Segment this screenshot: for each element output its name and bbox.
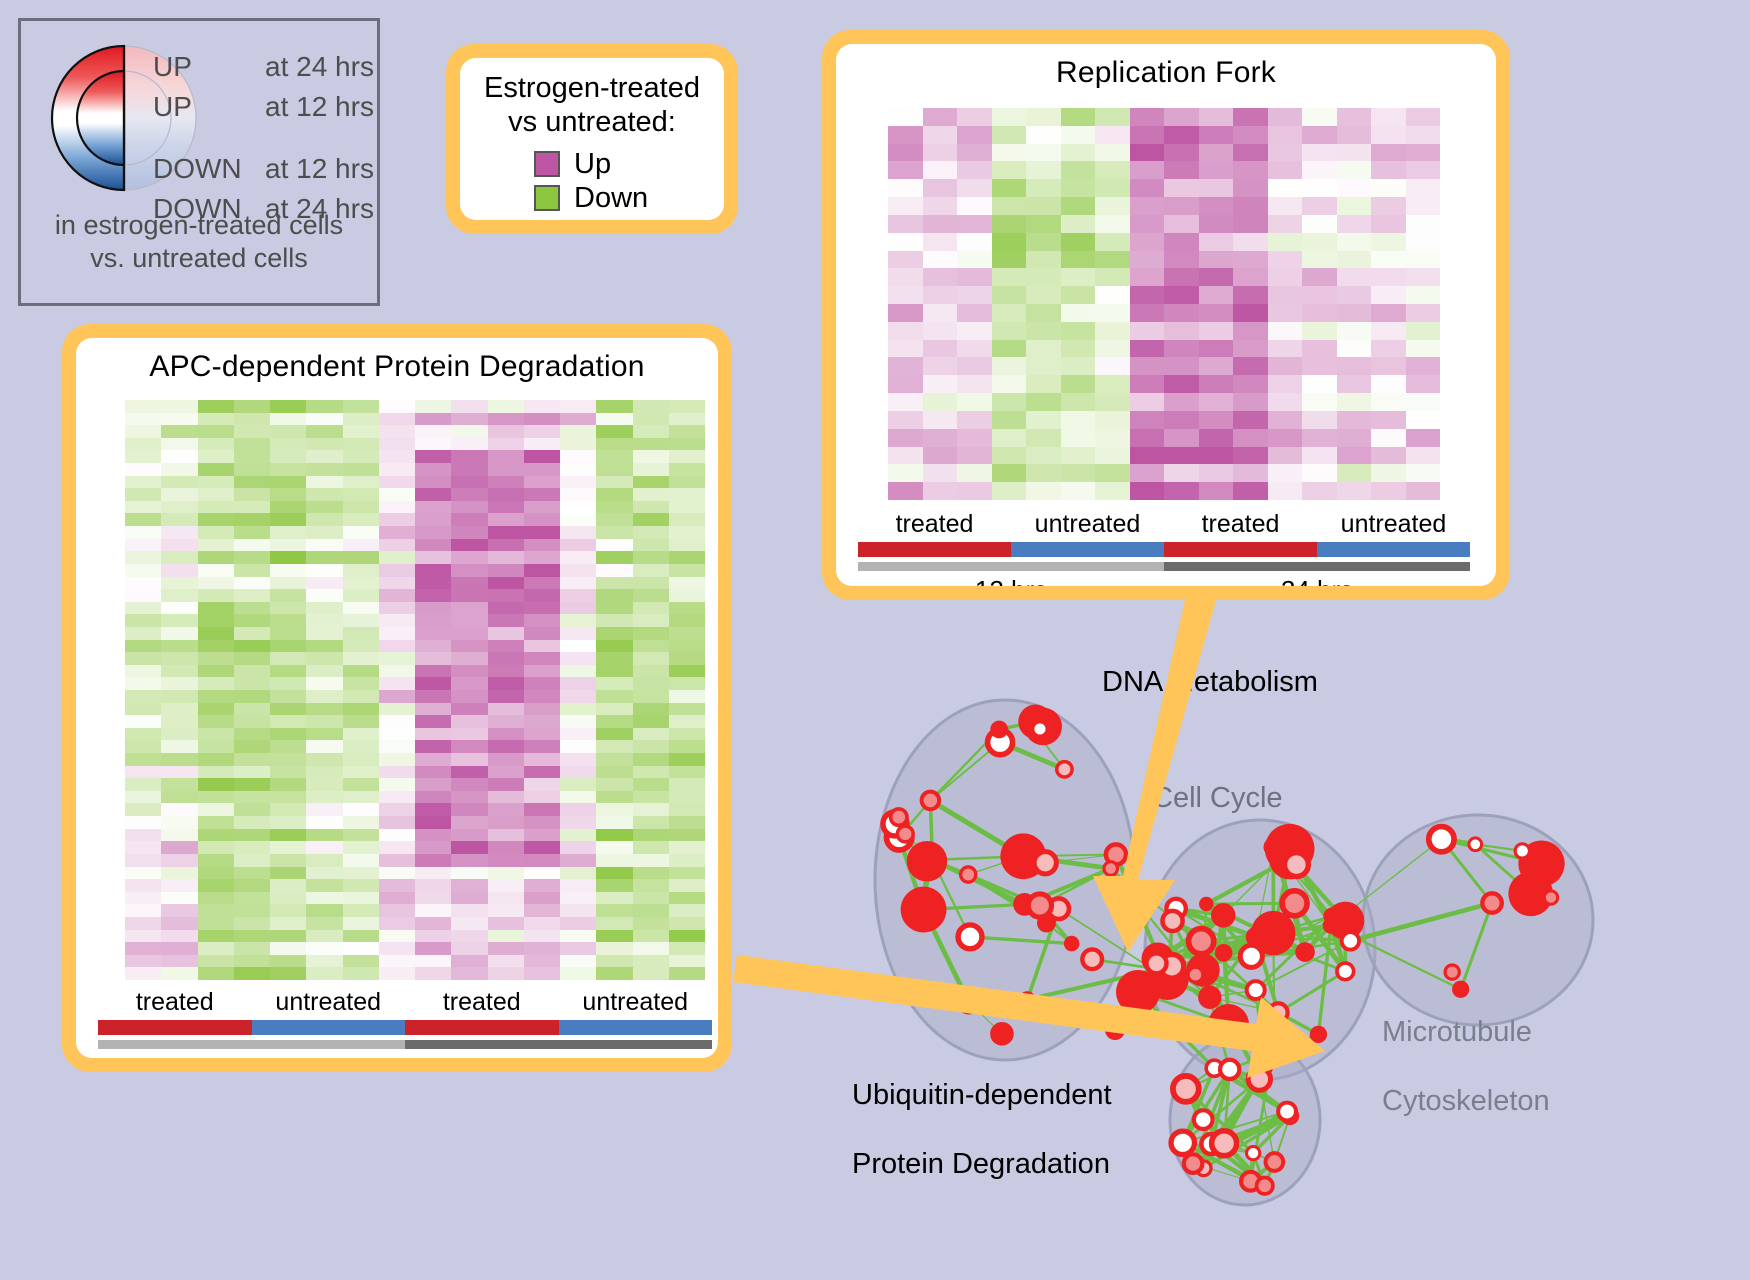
heatmap-cell (633, 539, 669, 552)
heatmap-cell (1026, 357, 1061, 375)
heatmap-cell (415, 791, 451, 804)
panel-title: Replication Fork (836, 44, 1496, 90)
heatmap-cell (234, 602, 270, 615)
heatmap-cell (1371, 304, 1406, 322)
heatmap-cell (379, 627, 415, 640)
network-node[interactable] (1215, 944, 1233, 962)
heatmap-cell (633, 967, 669, 980)
color-legend-panel: Estrogen-treated vs untreated: Up Down (446, 44, 738, 234)
heatmap-cell (234, 917, 270, 930)
sample-group-colorbar (858, 542, 1470, 557)
heatmap-cell (957, 144, 992, 162)
heatmap-cell (415, 740, 451, 753)
heatmap-cell (1026, 215, 1061, 233)
heatmap-cell (270, 640, 306, 653)
time-group-label: 24 hrs (1164, 575, 1470, 586)
heatmap-cell (560, 589, 596, 602)
heatmap-cell (125, 816, 161, 829)
heatmap-cell (1095, 393, 1130, 411)
heatmap-cell (524, 803, 560, 816)
heatmap-cell (1061, 393, 1096, 411)
heatmap-cell (524, 463, 560, 476)
heatmap-cell (1268, 411, 1303, 429)
heatmap-cell (560, 753, 596, 766)
heatmap-cell (379, 425, 415, 438)
network-node[interactable] (901, 887, 947, 933)
heatmap-cell (306, 627, 342, 640)
heatmap-cell (1268, 126, 1303, 144)
network-node[interactable] (1173, 1076, 1199, 1102)
heatmap-cell (488, 438, 524, 451)
ubiquitin-label-line-2: Protein Degradation (852, 1147, 1112, 1182)
heatmap-cell (1130, 464, 1165, 482)
heatmap-cell (1164, 322, 1199, 340)
heatmap-cell (596, 539, 632, 552)
heatmap-cell (161, 577, 197, 590)
heatmap-cell (161, 589, 197, 602)
heatmap-cell (415, 513, 451, 526)
heatmap-cell (1095, 108, 1130, 126)
network-node[interactable] (1253, 1049, 1267, 1063)
heatmap-cell (1337, 482, 1372, 500)
heatmap-cell (488, 766, 524, 779)
heatmap-cell (1406, 464, 1441, 482)
heatmap-cell (957, 464, 992, 482)
heatmap-cell (1371, 411, 1406, 429)
heatmap-cell (1268, 286, 1303, 304)
heatmap-cell (451, 488, 487, 501)
network-node[interactable] (1282, 891, 1307, 916)
heatmap-cell (1406, 197, 1441, 215)
sample-group-label: untreated (1317, 510, 1470, 539)
network-node[interactable] (1211, 903, 1235, 927)
heatmap-cell (306, 400, 342, 413)
heatmap-cell (888, 304, 923, 322)
heatmap-cell (1130, 144, 1165, 162)
heatmap-cell (161, 829, 197, 842)
network-node[interactable] (1105, 1020, 1125, 1040)
network-node[interactable] (1171, 1131, 1194, 1154)
heatmap-cell (125, 476, 161, 489)
heatmap-cell (1164, 251, 1199, 269)
key-row-down-12: DOWN at 12 hrs (153, 153, 383, 193)
network-node[interactable] (1264, 837, 1284, 857)
heatmap-cell (669, 551, 705, 564)
network-node[interactable] (1257, 1178, 1273, 1194)
heatmap-cell (524, 539, 560, 552)
heatmap-cell (1026, 108, 1061, 126)
heatmap-cell (596, 577, 632, 590)
network-node[interactable] (1295, 942, 1315, 962)
heatmap-cell (1026, 340, 1061, 358)
heatmap-cell (306, 476, 342, 489)
heatmap-cell (1199, 482, 1234, 500)
microtubule-label-line-2: Cytoskeleton (1382, 1084, 1550, 1119)
heatmap-cell (1233, 215, 1268, 233)
network-node[interactable] (1263, 1029, 1285, 1051)
heatmap-cell (888, 179, 923, 197)
time-group-label: 12 hrs (858, 575, 1164, 586)
heatmap-cell (1268, 268, 1303, 286)
heatmap-cell (125, 829, 161, 842)
heatmap-cell (415, 803, 451, 816)
network-node[interactable] (1445, 965, 1459, 979)
network-node[interactable] (1469, 838, 1482, 851)
heatmap-cell (451, 564, 487, 577)
network-node[interactable] (958, 925, 982, 949)
time-bar-12hrs (98, 1040, 405, 1049)
heatmap-cell (633, 413, 669, 426)
network-node[interactable] (1184, 1154, 1203, 1173)
heatmap-cell (488, 942, 524, 955)
heatmap-cell (633, 488, 669, 501)
heatmap-cell (633, 803, 669, 816)
heatmap-cell (524, 400, 560, 413)
heatmap-cell (669, 879, 705, 892)
network-node[interactable] (1028, 894, 1051, 917)
heatmap-cell (234, 892, 270, 905)
network-node[interactable] (1515, 844, 1529, 858)
heatmap-cell (633, 955, 669, 968)
network-node[interactable] (961, 867, 976, 882)
network-node[interactable] (1284, 853, 1308, 877)
heatmap-cell (633, 526, 669, 539)
network-node[interactable] (1082, 949, 1102, 969)
heatmap-cell (270, 930, 306, 943)
heatmap-cell (488, 816, 524, 829)
heatmap-cell (343, 892, 379, 905)
heatmap-cell (234, 778, 270, 791)
heatmap-cell (669, 753, 705, 766)
heatmap-cell (125, 753, 161, 766)
heatmap-cell (306, 690, 342, 703)
heatmap-cell (125, 778, 161, 791)
heatmap-cell (125, 677, 161, 690)
heatmap-cell (488, 753, 524, 766)
heatmap-cell (306, 488, 342, 501)
heatmap-cell (343, 640, 379, 653)
heatmap-cell (1199, 429, 1234, 447)
heatmap-cell (1130, 429, 1165, 447)
heatmap-cell (1130, 340, 1165, 358)
heatmap-cell (1406, 429, 1441, 447)
heatmap-cell (1199, 322, 1234, 340)
heatmap-cell (451, 766, 487, 779)
heatmap-cell (1371, 268, 1406, 286)
heatmap-cell (488, 892, 524, 905)
heatmap-cell (488, 526, 524, 539)
heatmap-cell (234, 463, 270, 476)
heatmap-cell (1026, 179, 1061, 197)
heatmap-cell (524, 967, 560, 980)
heatmap-cell (234, 715, 270, 728)
heatmap-cell (161, 665, 197, 678)
heatmap-cell (669, 501, 705, 514)
heatmap-cell (270, 942, 306, 955)
heatmap-cell (669, 450, 705, 463)
heatmap-cell (306, 917, 342, 930)
network-node[interactable] (1104, 862, 1118, 876)
network-node[interactable] (1278, 1103, 1296, 1121)
heatmap-cell (415, 602, 451, 615)
heatmap-cell (1302, 322, 1337, 340)
network-node[interactable] (1248, 1068, 1270, 1090)
key-caption-line-2: vs. untreated cells (21, 242, 377, 275)
heatmap-cell (343, 652, 379, 665)
network-node[interactable] (1544, 891, 1557, 904)
heatmap-cell (161, 438, 197, 451)
heatmap-cell (524, 753, 560, 766)
network-node[interactable] (1188, 967, 1203, 982)
heatmap-cell (669, 703, 705, 716)
heatmap-cell (306, 841, 342, 854)
heatmap-cell (415, 816, 451, 829)
heatmap-cell (451, 677, 487, 690)
heatmap-cell (524, 450, 560, 463)
network-node[interactable] (959, 992, 979, 1012)
heatmap-cell (1233, 268, 1268, 286)
heatmap-cell (669, 400, 705, 413)
heatmap-cell (198, 450, 234, 463)
heatmap-cell (161, 728, 197, 741)
heatmap-cell (343, 803, 379, 816)
heatmap-cell (596, 665, 632, 678)
heatmap-cell (451, 614, 487, 627)
heatmap-cell (161, 551, 197, 564)
heatmap-cell (669, 854, 705, 867)
heatmap-cell (343, 425, 379, 438)
network-node[interactable] (1189, 929, 1214, 954)
heatmap-cell (379, 930, 415, 943)
network-node[interactable] (1310, 1026, 1327, 1043)
heatmap-cell (923, 144, 958, 162)
heatmap-cell (1164, 286, 1199, 304)
network-node[interactable] (1194, 1110, 1213, 1129)
heatmap-cell (379, 892, 415, 905)
network-node[interactable] (1247, 981, 1265, 999)
network-node[interactable] (1212, 1131, 1237, 1156)
heatmap-cell (1164, 429, 1199, 447)
heatmap-cell (633, 930, 669, 943)
heatmap-cell (669, 438, 705, 451)
heatmap-cell (488, 400, 524, 413)
network-node[interactable] (1116, 970, 1160, 1014)
heatmap-cell (379, 539, 415, 552)
heatmap-cell (1199, 215, 1234, 233)
heatmap-cell (560, 942, 596, 955)
network-node[interactable] (1247, 1146, 1260, 1159)
heatmap-cell (633, 627, 669, 640)
heatmap-cell (1233, 357, 1268, 375)
heatmap-cell (1164, 375, 1199, 393)
heatmap-cell (1130, 251, 1165, 269)
heatmap-cell (1164, 304, 1199, 322)
heatmap-cell (306, 930, 342, 943)
heatmap-cell (270, 488, 306, 501)
heatmap-cell (1199, 126, 1234, 144)
heatmap-cell (198, 488, 234, 501)
network-node[interactable] (1199, 897, 1213, 911)
heatmap-cell (1302, 393, 1337, 411)
network-node[interactable] (897, 826, 913, 842)
heatmap-cell (1233, 161, 1268, 179)
group-bar-untreated-12 (252, 1020, 406, 1035)
heatmap-cell (379, 450, 415, 463)
network-node[interactable] (1064, 936, 1080, 952)
time-bar-12hrs (858, 562, 1164, 571)
heatmap-cell (596, 413, 632, 426)
network-node[interactable] (922, 849, 944, 871)
heatmap-cell (1302, 126, 1337, 144)
heatmap-cell (1164, 126, 1199, 144)
expression-key-rows: UP at 24 hrs UP at 12 hrs DOWN at 12 hrs… (153, 51, 383, 233)
heatmap-cell (125, 930, 161, 943)
heatmap-cell (1026, 429, 1061, 447)
heatmap-cell (560, 967, 596, 980)
heatmap-cell (1026, 447, 1061, 465)
heatmap-cell (560, 425, 596, 438)
heatmap-cell (1061, 286, 1096, 304)
heatmap-cell (451, 690, 487, 703)
network-node[interactable] (1323, 908, 1340, 925)
group-bar-treated-12 (858, 542, 1011, 557)
network-node[interactable] (1208, 1004, 1249, 1045)
heatmap-cell (234, 854, 270, 867)
heatmap-cell (270, 539, 306, 552)
heatmap-cell (234, 614, 270, 627)
heatmap-cell (306, 463, 342, 476)
network-node[interactable] (1034, 852, 1056, 874)
heatmap-cell (379, 400, 415, 413)
network-node[interactable] (1020, 993, 1034, 1007)
heatmap-cell (198, 652, 234, 665)
network-node[interactable] (1198, 986, 1221, 1009)
network-node[interactable] (1342, 932, 1359, 949)
heatmap-cell (488, 677, 524, 690)
network-node[interactable] (1162, 911, 1182, 931)
key-time-label: at 12 hrs (265, 91, 374, 123)
heatmap-cell (1199, 251, 1234, 269)
heatmap-cell (488, 640, 524, 653)
heatmap-cell (669, 526, 705, 539)
heatmap-cell (1199, 304, 1234, 322)
network-node[interactable] (1033, 722, 1047, 736)
heatmap-cell (379, 917, 415, 930)
heatmap-cell (596, 438, 632, 451)
heatmap-cell (992, 144, 1027, 162)
heatmap-cell (888, 144, 923, 162)
heatmap-cell (451, 829, 487, 842)
network-node[interactable] (1269, 1003, 1288, 1022)
heatmap-cell (379, 577, 415, 590)
heatmap-cell (234, 703, 270, 716)
group-bar-untreated-12 (1011, 542, 1164, 557)
heatmap-cell (957, 161, 992, 179)
network-node[interactable] (922, 792, 940, 810)
heatmap-cell (125, 967, 161, 980)
heatmap-cell (306, 589, 342, 602)
heatmap-cell (306, 867, 342, 880)
heatmap-cell (669, 892, 705, 905)
heatmap-cell (1164, 340, 1199, 358)
group-bar-untreated-24 (1317, 542, 1470, 557)
network-node[interactable] (891, 809, 907, 825)
heatmap-cell (198, 816, 234, 829)
heatmap-cell (306, 602, 342, 615)
heatmap-cell (306, 501, 342, 514)
network-node[interactable] (1266, 1153, 1284, 1171)
heatmap-cell (992, 286, 1027, 304)
heatmap-cell (415, 854, 451, 867)
heatmap-cell (415, 728, 451, 741)
network-node[interactable] (1220, 1060, 1239, 1079)
heatmap-cell (669, 665, 705, 678)
heatmap-cell (669, 955, 705, 968)
heatmap-cell (957, 340, 992, 358)
heatmap-cell (992, 411, 1027, 429)
heatmap-cell (198, 627, 234, 640)
network-node[interactable] (1429, 827, 1454, 852)
heatmap-cell (1061, 322, 1096, 340)
heatmap-cell (1302, 233, 1337, 251)
heatmap-cell (1164, 393, 1199, 411)
heatmap-cell (923, 447, 958, 465)
heatmap-cell (560, 640, 596, 653)
heatmap-cell (343, 438, 379, 451)
heatmap-cell (524, 778, 560, 791)
network-node[interactable] (1337, 963, 1354, 980)
network-node[interactable] (1146, 953, 1166, 973)
heatmap-cell (343, 690, 379, 703)
sample-group-label: untreated (252, 988, 406, 1017)
heatmap-cell (1095, 233, 1130, 251)
heatmap-cell (125, 463, 161, 476)
heatmap-cell (633, 867, 669, 880)
heatmap-cell (234, 488, 270, 501)
heatmap-cell (633, 476, 669, 489)
heatmap-cell (1371, 464, 1406, 482)
heatmap-cell (306, 450, 342, 463)
heatmap-cell (270, 955, 306, 968)
heatmap-cell (415, 425, 451, 438)
heatmap-cell (669, 942, 705, 955)
heatmap-cell (270, 450, 306, 463)
heatmap-cell (669, 602, 705, 615)
heatmap-cell (1130, 304, 1165, 322)
heatmap-cell (451, 413, 487, 426)
heatmap-cell (1130, 215, 1165, 233)
cluster-label-ubiquitin-protein-degradation: Ubiquitin-dependent Protein Degradation (852, 1043, 1112, 1217)
heatmap-cell (888, 215, 923, 233)
heatmap-cell (1061, 375, 1096, 393)
network-node[interactable] (1482, 893, 1501, 912)
heatmap-cell (415, 867, 451, 880)
network-node[interactable] (990, 721, 1008, 739)
heatmap-cell (992, 197, 1027, 215)
heatmap-cell (415, 703, 451, 716)
heatmap-cell (957, 108, 992, 126)
network-node[interactable] (1057, 762, 1072, 777)
network-node[interactable] (1240, 945, 1262, 967)
heatmap-cell (596, 589, 632, 602)
heatmap-cell (888, 411, 923, 429)
heatmap-cell (125, 425, 161, 438)
heatmap-cell (669, 816, 705, 829)
heatmap-cell (125, 854, 161, 867)
heatmap-cell (1061, 464, 1096, 482)
heatmap-cell (379, 803, 415, 816)
heatmap-cell (451, 867, 487, 880)
